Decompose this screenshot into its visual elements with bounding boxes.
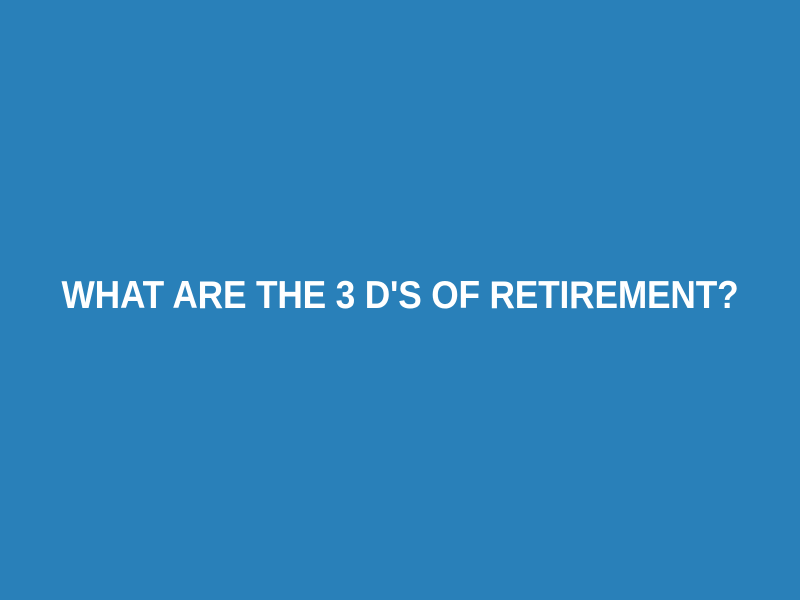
hero-title-container: WHAT ARE THE 3 D'S OF RETIREMENT? — [0, 0, 800, 600]
page-title: WHAT ARE THE 3 D'S OF RETIREMENT? — [38, 275, 762, 317]
hero-banner: WHAT ARE THE 3 D'S OF RETIREMENT? — [0, 0, 800, 600]
